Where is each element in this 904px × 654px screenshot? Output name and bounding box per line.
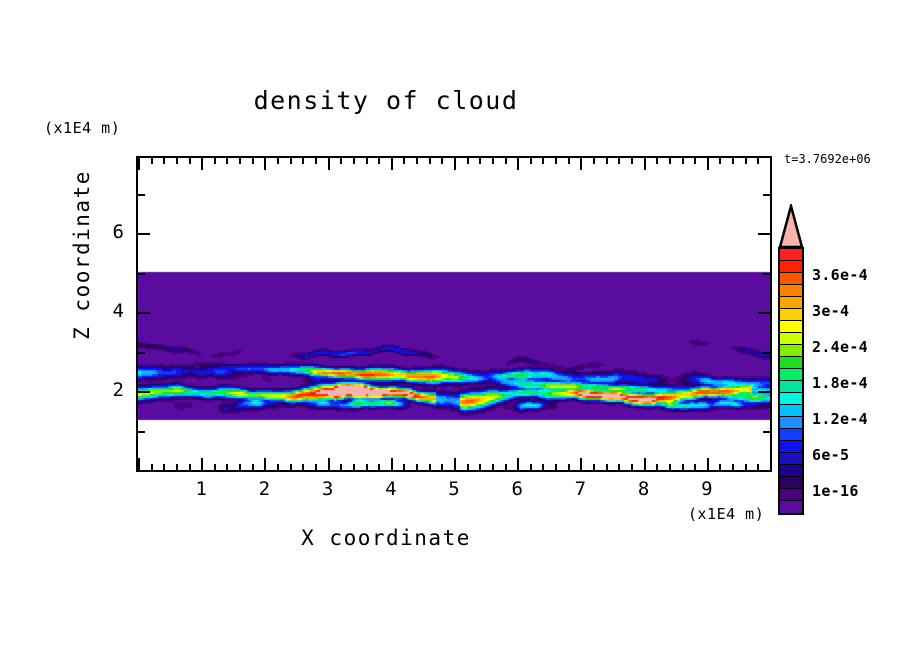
tick-mark	[277, 158, 279, 164]
tick-mark	[606, 158, 608, 164]
tick-mark	[138, 431, 145, 433]
y-axis-title: Z coordinate	[70, 155, 94, 355]
colorbar-arrow-cap-icon	[778, 204, 804, 248]
tick-mark	[302, 464, 304, 470]
tick-mark	[201, 158, 203, 170]
y-tick-label: 4	[90, 300, 124, 322]
tick-mark	[264, 458, 266, 470]
tick-mark	[505, 464, 507, 470]
tick-mark	[467, 464, 469, 470]
tick-mark	[517, 458, 519, 470]
tick-mark	[644, 458, 646, 470]
tick-mark	[138, 273, 145, 275]
tick-mark	[138, 352, 145, 354]
tick-mark	[593, 158, 595, 164]
x-tick-label: 8	[629, 478, 659, 500]
tick-mark	[176, 464, 178, 470]
tick-mark	[315, 158, 317, 164]
tick-mark	[138, 391, 150, 393]
colorbar-cell	[780, 357, 802, 369]
tick-mark	[763, 431, 770, 433]
tick-mark	[656, 464, 658, 470]
tick-mark	[517, 158, 519, 170]
tick-mark	[656, 158, 658, 164]
colorbar-cell	[780, 501, 802, 513]
tick-mark	[580, 458, 582, 470]
colorbar-cell	[780, 405, 802, 417]
colorbar-cell	[780, 333, 802, 345]
tick-mark	[340, 464, 342, 470]
tick-mark	[353, 158, 355, 164]
tick-mark	[328, 458, 330, 470]
tick-mark	[707, 158, 709, 170]
tick-mark	[391, 158, 393, 170]
tick-mark	[328, 158, 330, 170]
tick-mark	[454, 458, 456, 470]
tick-mark	[669, 464, 671, 470]
tick-mark	[479, 158, 481, 164]
tick-mark	[163, 158, 165, 164]
tick-mark	[757, 158, 759, 164]
contour-field	[138, 158, 770, 470]
x-tick-label: 9	[692, 478, 722, 500]
tick-mark	[719, 158, 721, 164]
tick-mark	[745, 158, 747, 164]
tick-mark	[416, 464, 418, 470]
x-tick-label: 5	[439, 478, 469, 500]
x-tick-label: 4	[376, 478, 406, 500]
tick-mark	[618, 464, 620, 470]
tick-mark	[555, 158, 557, 164]
colorbar-cell	[780, 345, 802, 357]
tick-mark	[441, 158, 443, 164]
tick-mark	[669, 158, 671, 164]
tick-mark	[252, 158, 254, 164]
tick-mark	[763, 194, 770, 196]
tick-mark	[226, 464, 228, 470]
tick-mark	[618, 158, 620, 164]
tick-mark	[138, 194, 145, 196]
page-title: density of cloud	[0, 86, 772, 115]
tick-mark	[366, 158, 368, 164]
tick-mark	[290, 158, 292, 164]
tick-mark	[201, 458, 203, 470]
tick-mark	[264, 158, 266, 170]
tick-mark	[732, 158, 734, 164]
tick-mark	[530, 464, 532, 470]
tick-mark	[467, 158, 469, 164]
colorbar-cell	[780, 477, 802, 489]
tick-mark	[315, 464, 317, 470]
tick-mark	[391, 458, 393, 470]
tick-mark	[138, 312, 150, 314]
tick-mark	[429, 464, 431, 470]
tick-mark	[719, 464, 721, 470]
tick-mark	[580, 158, 582, 170]
colorbar-cell	[780, 261, 802, 273]
contour-plot-frame	[136, 156, 772, 472]
tick-mark	[606, 464, 608, 470]
y-tick-label: 2	[90, 379, 124, 401]
tick-mark	[568, 158, 570, 164]
colorbar-cell	[780, 429, 802, 441]
tick-mark	[763, 273, 770, 275]
tick-mark	[302, 158, 304, 164]
colorbar-cell	[780, 417, 802, 429]
tick-mark	[340, 158, 342, 164]
tick-mark	[176, 158, 178, 164]
tick-mark	[277, 464, 279, 470]
tick-mark	[214, 464, 216, 470]
colorbar-cells	[778, 247, 804, 515]
colorbar-cell	[780, 321, 802, 333]
y-axis-unit-label: (x1E4 m)	[44, 119, 120, 137]
tick-mark	[758, 233, 770, 235]
tick-mark	[758, 391, 770, 393]
colorbar-tick-label: 1.8e-4	[812, 374, 868, 392]
colorbar-tick-label: 2.4e-4	[812, 338, 868, 356]
tick-mark	[454, 158, 456, 170]
x-axis-title: X coordinate	[0, 526, 772, 550]
tick-mark	[290, 464, 292, 470]
x-tick-label: 6	[502, 478, 532, 500]
colorbar-cell	[780, 453, 802, 465]
tick-mark	[770, 158, 772, 170]
tick-mark	[403, 464, 405, 470]
tick-mark	[707, 458, 709, 470]
tick-mark	[763, 352, 770, 354]
tick-mark	[163, 464, 165, 470]
colorbar-cell	[780, 249, 802, 261]
tick-mark	[239, 158, 241, 164]
colorbar-cell	[780, 381, 802, 393]
tick-mark	[770, 458, 772, 470]
colorbar-cell	[780, 489, 802, 501]
tick-mark	[758, 470, 770, 472]
tick-mark	[138, 470, 150, 472]
tick-mark	[631, 464, 633, 470]
colorbar-cell	[780, 465, 802, 477]
tick-mark	[151, 158, 153, 164]
colorbar-cell	[780, 393, 802, 405]
colorbar-tick-label: 3e-4	[812, 302, 849, 320]
tick-mark	[542, 464, 544, 470]
colorbar-cell	[780, 285, 802, 297]
tick-mark	[429, 158, 431, 164]
tick-mark	[138, 158, 140, 170]
colorbar-cell	[780, 273, 802, 285]
y-tick-label: 6	[90, 221, 124, 243]
tick-mark	[138, 233, 150, 235]
colorbar-cell	[780, 309, 802, 321]
tick-mark	[694, 158, 696, 164]
tick-mark	[555, 464, 557, 470]
tick-mark	[694, 464, 696, 470]
tick-mark	[682, 158, 684, 164]
tick-mark	[252, 464, 254, 470]
x-axis-unit-label: (x1E4 m)	[688, 505, 764, 523]
tick-mark	[505, 158, 507, 164]
time-annotation: t=3.7692e+06	[784, 152, 871, 166]
colorbar-tick-label: 6e-5	[812, 446, 849, 464]
x-tick-label: 2	[249, 478, 279, 500]
tick-mark	[492, 158, 494, 164]
tick-mark	[151, 464, 153, 470]
tick-mark	[568, 464, 570, 470]
colorbar-cell	[780, 297, 802, 309]
tick-mark	[593, 464, 595, 470]
tick-mark	[479, 464, 481, 470]
x-tick-label: 1	[186, 478, 216, 500]
tick-mark	[492, 464, 494, 470]
tick-mark	[226, 158, 228, 164]
colorbar-cell	[780, 369, 802, 381]
tick-mark	[189, 464, 191, 470]
tick-mark	[214, 158, 216, 164]
tick-mark	[378, 158, 380, 164]
tick-mark	[416, 158, 418, 164]
tick-mark	[631, 158, 633, 164]
tick-mark	[138, 458, 140, 470]
tick-mark	[441, 464, 443, 470]
colorbar-tick-label: 1e-16	[812, 482, 859, 500]
colorbar-cell	[780, 441, 802, 453]
tick-mark	[644, 158, 646, 170]
tick-mark	[189, 158, 191, 164]
colorbar-tick-label: 3.6e-4	[812, 266, 868, 284]
tick-mark	[745, 464, 747, 470]
colorbar-tick-label: 1.2e-4	[812, 410, 868, 428]
x-tick-label: 3	[313, 478, 343, 500]
tick-mark	[239, 464, 241, 470]
tick-mark	[682, 464, 684, 470]
tick-mark	[732, 464, 734, 470]
tick-mark	[403, 158, 405, 164]
tick-mark	[378, 464, 380, 470]
x-tick-label: 7	[565, 478, 595, 500]
tick-mark	[542, 158, 544, 164]
tick-mark	[366, 464, 368, 470]
tick-mark	[353, 464, 355, 470]
tick-mark	[758, 312, 770, 314]
tick-mark	[530, 158, 532, 164]
